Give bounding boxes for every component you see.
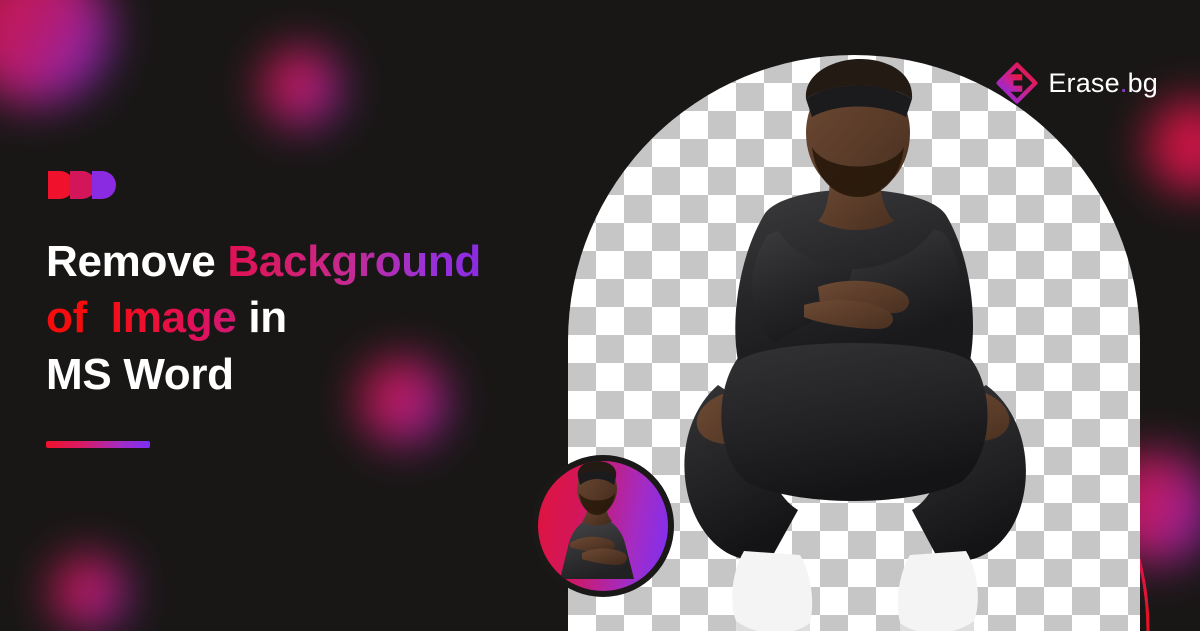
hero-banner: Remove Background of Image in MS Word Er… — [0, 0, 1200, 631]
before-image-inset — [532, 455, 674, 597]
accent-divider — [46, 441, 150, 448]
headline-line1-white: Remove — [46, 237, 227, 286]
inset-subject-figure — [538, 461, 656, 579]
headline-line2-white: in — [236, 293, 286, 342]
hero-copy: Remove Background of Image in MS Word — [46, 168, 481, 448]
brand-lockup[interactable]: Erase.bg — [996, 62, 1158, 104]
headline-line-1: Remove Background — [46, 234, 481, 290]
brand-name: Erase — [1048, 68, 1120, 98]
erase-bg-diamond-logo-icon — [996, 62, 1038, 104]
headline-line2-red: of — [46, 293, 99, 342]
page-title: Remove Background of Image in MS Word — [46, 234, 481, 403]
bokeh-top-left — [0, 0, 110, 105]
headline-line-3: MS Word — [46, 347, 481, 403]
three-half-circles-logo-glyph-icon — [46, 168, 481, 202]
brand-wordmark: Erase.bg — [1048, 68, 1158, 99]
brand-dot: . — [1120, 68, 1128, 98]
bokeh-top-center — [262, 48, 340, 126]
headline-line1-gradient: Background — [227, 237, 481, 286]
headline-line2-gradient: Image — [99, 293, 237, 342]
headline-line-2: of Image in — [46, 290, 481, 346]
bokeh-bottom-left — [52, 555, 126, 629]
brand-suffix: bg — [1128, 68, 1158, 98]
